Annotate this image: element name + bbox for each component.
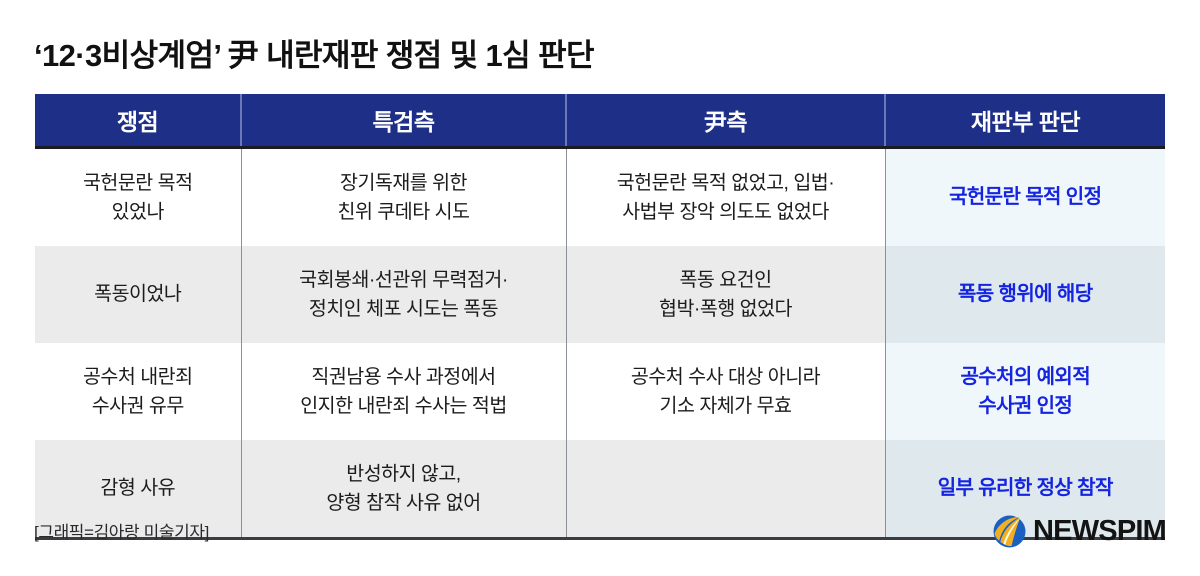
- cell-verdict: 국헌문란 목적 인정: [885, 148, 1165, 247]
- newspim-logo: NEWSPIM: [993, 513, 1166, 549]
- cell-line: 폭동이었나: [45, 280, 231, 308]
- cell-line: 양형 참작 사유 없어: [252, 489, 556, 517]
- column-header-prosecution: 특검측: [241, 94, 566, 148]
- newspim-globe-icon: [993, 515, 1026, 548]
- cell-prosecution: 국회봉쇄·선관위 무력점거· 정치인 체포 시도는 폭동: [241, 246, 566, 343]
- cell-line: 협박·폭행 없었다: [577, 295, 875, 323]
- cell-line: 사법부 장악 의도도 없었다: [577, 198, 875, 226]
- page-title: ‘12·3비상계엄’ 尹 내란재판 쟁점 및 1심 판단: [34, 37, 1174, 76]
- cell-verdict: 폭동 행위에 해당: [885, 246, 1165, 343]
- table-row: 공수처 내란죄 수사권 유무 직권남용 수사 과정에서 인지한 내란죄 수사는 …: [35, 343, 1165, 440]
- cell-line: 국헌문란 목적 인정: [896, 183, 1156, 212]
- table-body: 국헌문란 목적 있었나 장기독재를 위한 친위 쿠데타 시도 국헌문란 목적 없…: [35, 148, 1165, 539]
- table-header-row: 쟁점 특검측 尹측 재판부 판단: [35, 94, 1165, 148]
- cell-line: 장기독재를 위한: [252, 169, 556, 197]
- issues-table-wrapper: 쟁점 특검측 尹측 재판부 판단 국헌문란 목적 있었나 장기독재를 위한 친위…: [35, 94, 1165, 540]
- cell-defense: 폭동 요건인 협박·폭행 없었다: [566, 246, 885, 343]
- cell-prosecution: 직권남용 수사 과정에서 인지한 내란죄 수사는 적법: [241, 343, 566, 440]
- cell-issue: 공수처 내란죄 수사권 유무: [35, 343, 241, 440]
- cell-line: 일부 유리한 정상 참작: [896, 474, 1156, 503]
- column-header-verdict: 재판부 판단: [885, 94, 1165, 148]
- newspim-wordmark: NEWSPIM: [1033, 517, 1166, 546]
- cell-prosecution: 장기독재를 위한 친위 쿠데타 시도: [241, 148, 566, 247]
- cell-verdict: 공수처의 예외적 수사권 인정: [885, 343, 1165, 440]
- cell-line: 반성하지 않고,: [252, 460, 556, 488]
- cell-line: 있었나: [45, 198, 231, 226]
- cell-line: 인지한 내란죄 수사는 적법: [252, 392, 556, 420]
- cell-line: 국헌문란 목적: [45, 169, 231, 197]
- cell-defense: [566, 440, 885, 539]
- cell-defense: 국헌문란 목적 없었고, 입법· 사법부 장악 의도도 없었다: [566, 148, 885, 247]
- cell-line: 수사권 유무: [45, 392, 231, 420]
- cell-line: 폭동 요건인: [577, 266, 875, 294]
- cell-defense: 공수처 수사 대상 아니라 기소 자체가 무효: [566, 343, 885, 440]
- table-row: 국헌문란 목적 있었나 장기독재를 위한 친위 쿠데타 시도 국헌문란 목적 없…: [35, 148, 1165, 247]
- cell-line: 국회봉쇄·선관위 무력점거·: [252, 266, 556, 294]
- column-header-issue: 쟁점: [35, 94, 241, 148]
- infographic-page: ‘12·3비상계엄’ 尹 내란재판 쟁점 및 1심 판단 쟁점 특검측 尹측 재…: [0, 0, 1200, 576]
- cell-line: 정치인 체포 시도는 폭동: [252, 295, 556, 323]
- issues-table: 쟁점 특검측 尹측 재판부 판단 국헌문란 목적 있었나 장기독재를 위한 친위…: [35, 94, 1165, 540]
- cell-line: 공수처의 예외적: [896, 363, 1156, 392]
- cell-line: 폭동 행위에 해당: [896, 280, 1156, 309]
- cell-prosecution: 반성하지 않고, 양형 참작 사유 없어: [241, 440, 566, 539]
- cell-line: 감형 사유: [45, 474, 231, 502]
- cell-line: 기소 자체가 무효: [577, 392, 875, 420]
- cell-issue: 국헌문란 목적 있었나: [35, 148, 241, 247]
- cell-line: 직권남용 수사 과정에서: [252, 363, 556, 391]
- table-header: 쟁점 특검측 尹측 재판부 판단: [35, 94, 1165, 148]
- graphic-credit: [그래픽=김아랑 미술기자]: [34, 518, 209, 543]
- cell-line: 친위 쿠데타 시도: [252, 198, 556, 226]
- cell-line: 공수처 수사 대상 아니라: [577, 363, 875, 391]
- cell-line: 수사권 인정: [896, 392, 1156, 421]
- cell-line: 국헌문란 목적 없었고, 입법·: [577, 169, 875, 197]
- table-row: 폭동이었나 국회봉쇄·선관위 무력점거· 정치인 체포 시도는 폭동 폭동 요건…: [35, 246, 1165, 343]
- cell-issue: 폭동이었나: [35, 246, 241, 343]
- column-header-defense: 尹측: [566, 94, 885, 148]
- cell-line: 공수처 내란죄: [45, 363, 231, 391]
